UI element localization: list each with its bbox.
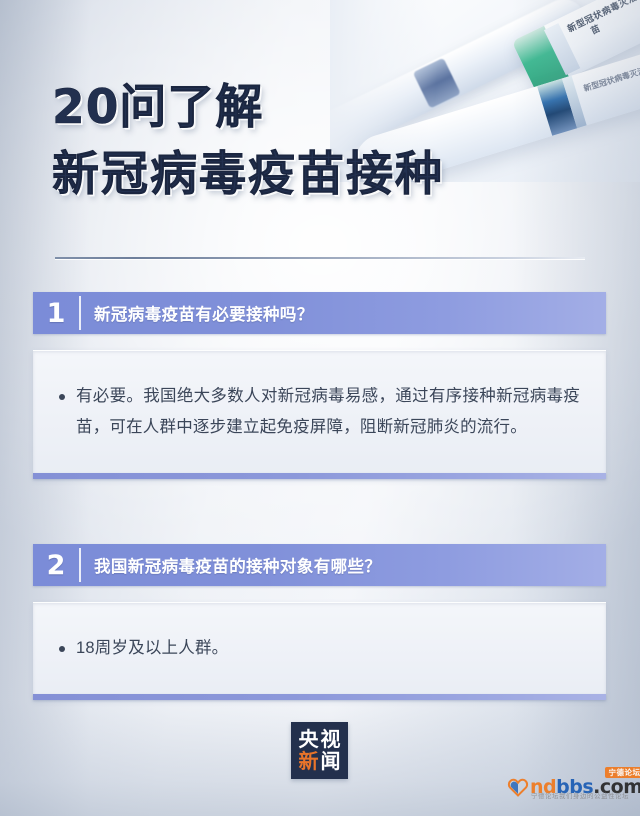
answer-card-inner-2: 18周岁及以上人群。 xyxy=(33,603,606,694)
question-number-1: 1 xyxy=(33,292,79,334)
vial-cap xyxy=(512,26,570,94)
page-title: 20问了解 新冠病毒疫苗接种 xyxy=(52,84,444,198)
answer-card-1: 有必要。我国绝大多数人对新冠病毒易感，通过有序接种新冠病毒疫苗，可在人群中逐步建… xyxy=(33,350,606,479)
answer-card-accent-bar-2 xyxy=(33,694,606,700)
vaccine-vial: 新型冠状病毒灭活疫 苗 xyxy=(512,0,640,94)
question-block-2: 2 我国新冠病毒疫苗的接种对象有哪些？ 18周岁及以上人群。 xyxy=(33,544,606,700)
answer-text-2: 18周岁及以上人群。 xyxy=(59,633,580,664)
answer-card-accent-bar-1 xyxy=(33,473,606,479)
watermark: ndbbs.com 宁德论坛 宁德论坛我们身边的公益性论坛 xyxy=(507,766,631,808)
title-line-2: 新冠病毒疫苗接种 xyxy=(52,151,444,198)
vial-label-line1: 新型冠状病毒灭活疫 xyxy=(566,0,640,34)
answer-card-2: 18周岁及以上人群。 xyxy=(33,602,606,700)
logo-row-top: 央 视 xyxy=(299,729,341,750)
answer-text-1: 有必要。我国绝大多数人对新冠病毒易感，通过有序接种新冠病毒疫苗，可在人群中逐步建… xyxy=(59,381,580,443)
watermark-badge: 宁德论坛 xyxy=(605,767,640,778)
question-number-2: 2 xyxy=(33,544,79,586)
logo-char-wen: 闻 xyxy=(321,751,341,772)
question-block-1: 1 新冠病毒疫苗有必要接种吗？ 有必要。我国绝大多数人对新冠病毒易感，通过有序接… xyxy=(33,292,606,479)
logo-char-shi: 视 xyxy=(321,729,341,750)
logo-row-bottom: 新 闻 xyxy=(299,751,341,772)
syringe-front-ring-2 xyxy=(562,76,587,129)
question-header-2: 2 我国新冠病毒疫苗的接种对象有哪些？ xyxy=(33,544,606,586)
logo-char-xin: 新 xyxy=(299,751,319,772)
answer-card-inner-1: 有必要。我国绝大多数人对新冠病毒易感，通过有序接种新冠病毒疫苗，可在人群中逐步建… xyxy=(33,351,606,473)
question-text-2: 我国新冠病毒疫苗的接种对象有哪些？ xyxy=(81,544,381,586)
vial-label: 新型冠状病毒灭活疫 苗 xyxy=(565,0,640,46)
vial-label-line2: 苗 xyxy=(589,0,640,37)
poster-root: 新型冠状病毒灭活疫 苗 新型冠状病毒灭活疫苗 20问了解 新冠病毒疫苗接种 1 … xyxy=(0,0,640,816)
cctv-news-logo: 央 视 新 闻 xyxy=(291,722,348,779)
heart-icon xyxy=(507,776,529,798)
title-line-1: 20问了解 xyxy=(52,84,444,131)
question-text-1: 新冠病毒疫苗有必要接种吗？ xyxy=(81,292,314,334)
question-header-1: 1 新冠病毒疫苗有必要接种吗？ xyxy=(33,292,606,334)
syringe-front-ring xyxy=(537,78,577,135)
title-divider xyxy=(55,257,585,259)
logo-char-yang: 央 xyxy=(299,729,319,750)
syringe-label: 新型冠状病毒灭活疫苗 xyxy=(583,61,640,94)
watermark-subtitle: 宁德论坛我们身边的公益性论坛 xyxy=(531,793,629,801)
vial-neck xyxy=(544,23,580,75)
